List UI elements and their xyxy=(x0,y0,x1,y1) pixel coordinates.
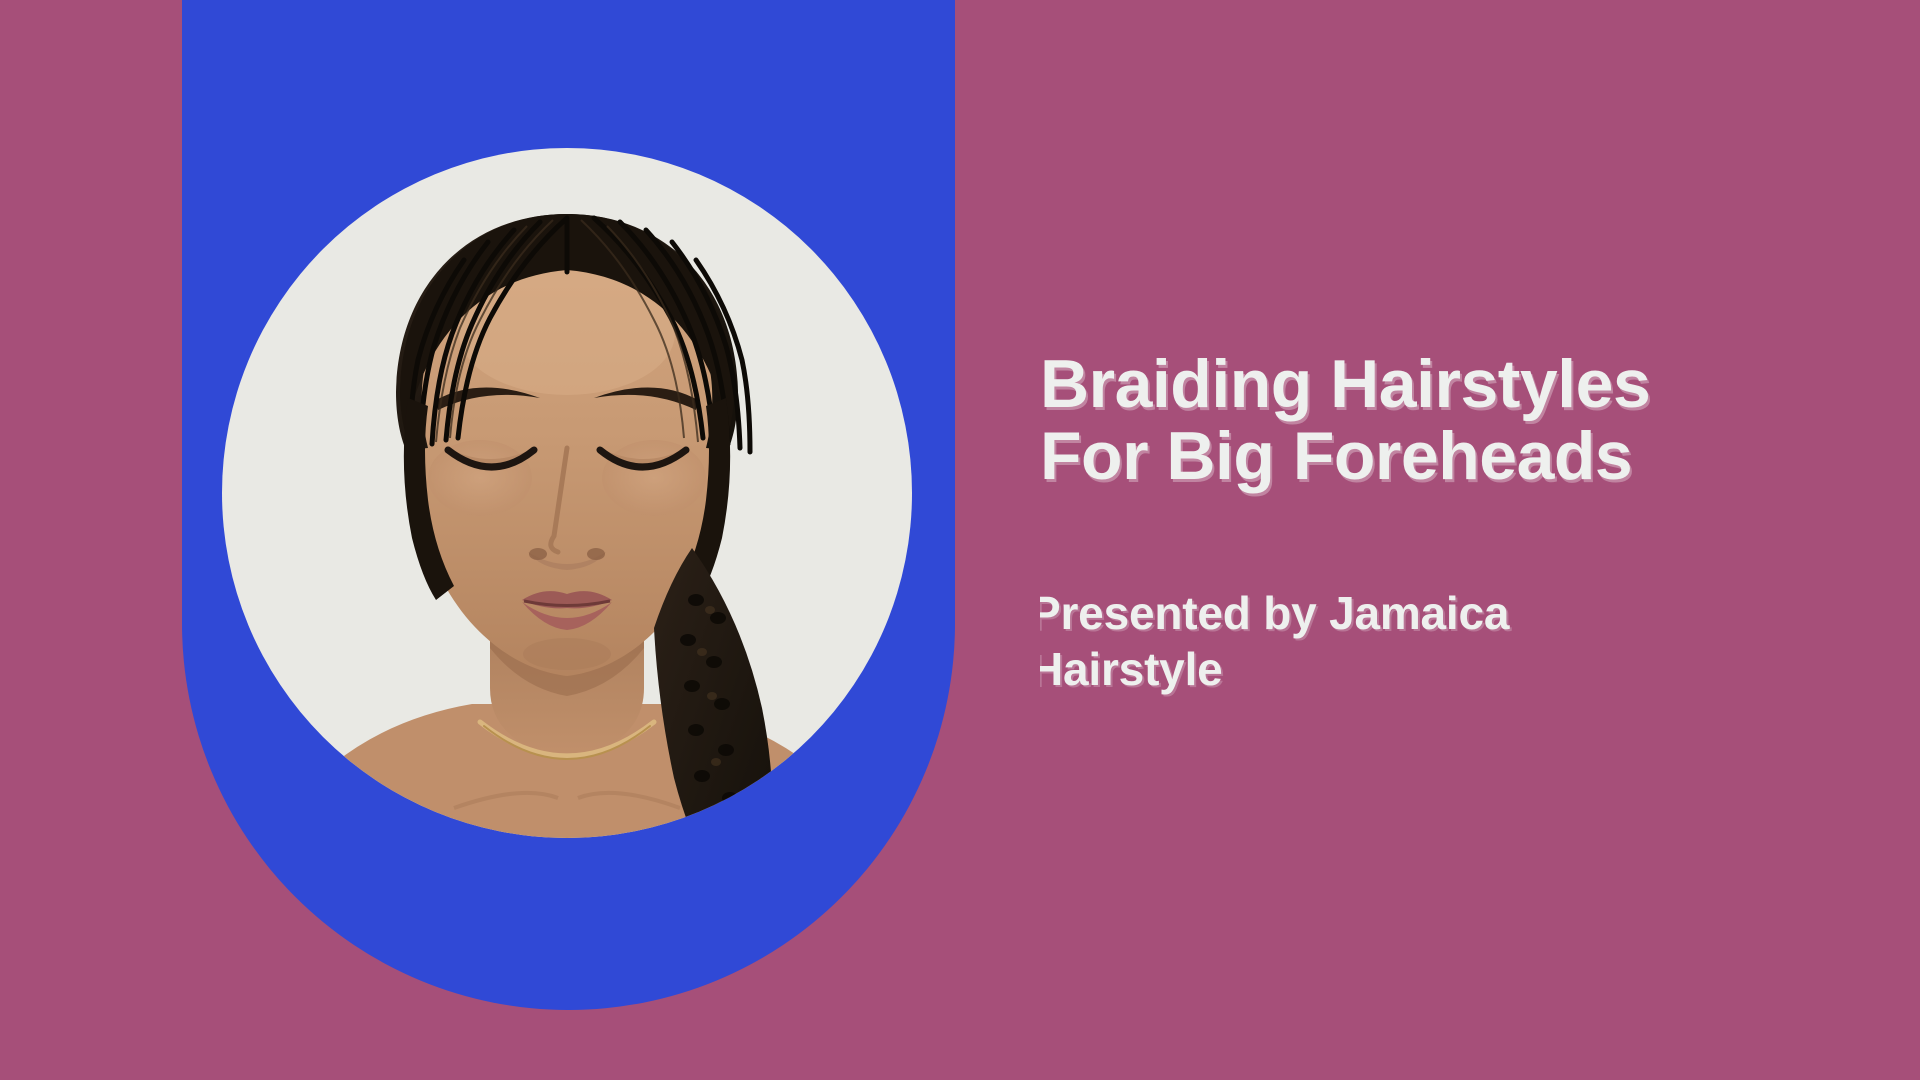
page-title-line-2: For Big Foreheads xyxy=(1040,420,1740,492)
subtitle-text: Presented by Jamaica Hairstyle xyxy=(1040,585,1509,697)
subtitle-line-2: Hairstyle xyxy=(1040,641,1509,697)
title-slide: Braiding Hairstyles For Big Foreheads Pr… xyxy=(0,0,1920,1080)
subtitle-line-1: Presented by Jamaica xyxy=(1040,587,1509,639)
page-title-line-1: Braiding Hairstyles xyxy=(1040,348,1740,420)
portrait-disc xyxy=(222,148,912,838)
subtitle-clip-region: Presented by Jamaica Hairstyle xyxy=(1040,585,1738,715)
title-text-block: Braiding Hairstyles For Big Foreheads xyxy=(1040,348,1740,492)
